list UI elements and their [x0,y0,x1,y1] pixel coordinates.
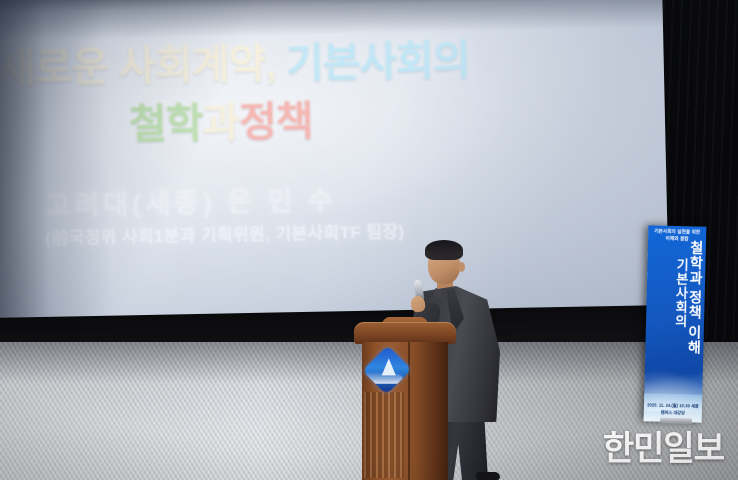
podium-desktop [354,322,456,344]
speaker-hair [425,240,463,260]
podium-edge-seam [408,342,410,480]
projection-screen: 새로운 사회계약, 기본사회의 철학과정책 고려대(세종) 은 민 수 (前국정… [0,0,669,340]
speaker-ear [458,262,465,272]
slide-title-segment-red: 정책 [239,98,313,145]
podium [352,322,458,480]
slide-title-segment-green: 철학 [129,100,203,147]
slide-title-line-2: 철학과정책 [128,87,313,151]
slide-title-segment-cream: 새로운 사회계약, [0,41,276,92]
slide-title-segment-cyan: 기본사회의 [286,37,470,87]
presentation-slide: 새로운 사회계약, 기본사회의 철학과정책 고려대(세종) 은 민 수 (前국정… [0,0,669,339]
banner-footer-text: 2025. 11. 24.(월) 15:30 세종캠퍼스 대강당 [647,403,699,417]
press-watermark: 한민일보 [603,421,724,470]
photo-frame: 새로운 사회계약, 기본사회의 철학과정책 고려대(세종) 은 민 수 (前국정… [0,0,738,480]
banner-vertical-columns: 철학과 정책 이해 기본사회의 [646,241,704,402]
slide-title-segment-conjunction: 과 [202,99,240,146]
slide-title-line-1: 새로운 사회계약, 기본사회의 [0,26,470,95]
podium-fluting [364,392,404,478]
crest-peak [382,358,396,375]
speaker-shoe [476,472,500,480]
slide-presenter-name: 고려대(세종) 은 민 수 [45,178,337,223]
rollup-banner: 기본사회의 실현을 위한 이해와 결합 철학과 정책 이해 기본사회의 2025… [644,225,707,422]
